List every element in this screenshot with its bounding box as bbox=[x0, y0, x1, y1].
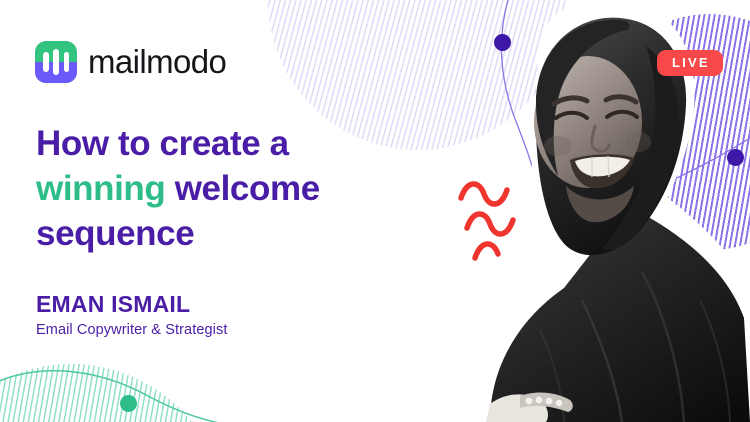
headline-line-1: How to create a bbox=[36, 124, 289, 163]
headline-line-3: sequence bbox=[36, 214, 194, 253]
brand-wordmark: mailmodo bbox=[88, 43, 226, 81]
headline-line-2-rest: welcome bbox=[165, 169, 319, 208]
purple-dot-top-icon bbox=[494, 34, 511, 51]
live-badge: LIVE bbox=[657, 50, 723, 76]
brand-logo[interactable]: mailmodo bbox=[35, 41, 226, 83]
page-title: How to create a winning welcome sequence bbox=[36, 122, 436, 256]
speaker-role: Email Copywriter & Strategist bbox=[36, 322, 227, 338]
speaker-name: EMAN ISMAIL bbox=[36, 291, 190, 318]
webinar-promo-banner: LIVE mailmodo How to create a winning we… bbox=[0, 0, 750, 422]
mailmodo-logo-icon bbox=[35, 41, 77, 83]
green-dot-icon bbox=[120, 395, 137, 412]
headline-highlight: winning bbox=[36, 169, 165, 208]
green-curve-line-icon bbox=[0, 355, 250, 422]
purple-dot-right-icon bbox=[727, 149, 744, 166]
hatched-circle-green-icon bbox=[0, 364, 226, 422]
